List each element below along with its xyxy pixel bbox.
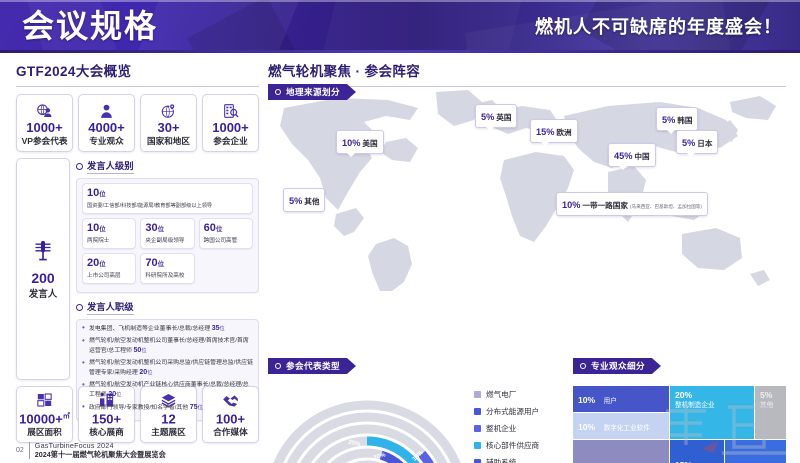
exhibition-area-icon — [36, 391, 53, 409]
stat-value: 4000+ — [88, 121, 125, 135]
bullet-ring-icon — [76, 304, 83, 311]
map-label-pct: 10% — [342, 138, 360, 148]
tile-label: 数字化工业软件 — [604, 425, 650, 432]
level-group-panel: 10位 国资委/工信部/科技部/能源局/教育部等副部级以上领导 10位 两院院士… — [76, 178, 259, 293]
radial-chart-svg: 10% 10% 15% 25% 20% 15% 5% — [264, 384, 470, 463]
building-search-icon — [223, 102, 239, 120]
speaker-detail-wrap: 200 发言人 发言人级别 10位 国资委/工信部/科技部/能源局/教育部等副部… — [16, 158, 259, 380]
person-icon — [99, 102, 114, 120]
page-footer: 02 GasTurbineFocus 2024 2024第十一届燃气轮机聚焦大会… — [16, 441, 166, 459]
radial-chart-block: 参会代表类型 — [268, 360, 528, 463]
legend-swatch — [474, 408, 481, 415]
map-label-pct: 5% — [481, 112, 494, 122]
title-bullet-list: 发电集团、飞机制造等企业董事长/总裁/总经理 35位 燃气轮机/航空发动机整机公… — [82, 324, 253, 413]
footer-divider — [29, 442, 30, 459]
page-title: 会议规格 — [22, 6, 158, 46]
footer-line-2: 2024第十一届燃气轮机聚焦大会暨展览会 — [35, 450, 166, 459]
title-group-header: 发言人职级 — [76, 299, 259, 315]
map-label-name: 英国 — [496, 113, 511, 122]
level-cell: 10位 国资委/工信部/科技部/能源局/教育部等副部级以上领导 — [82, 183, 253, 214]
stat-card: 1000+ 参会企业 — [202, 94, 259, 152]
stat-label: 展区面积 — [27, 427, 61, 438]
legend-label: 燃气电厂 — [486, 389, 516, 400]
world-map-chart: 地理来源划分 10%美国 5%英国 15%欧洲 5%韩国 5%日本 45%中国 … — [268, 86, 786, 291]
radial-tag: 参会代表类型 — [268, 358, 356, 374]
map-label-belt-and-road: 10%一带一路国家(马来西亚、巴基斯坦、孟加拉国等) — [556, 192, 708, 216]
level-value: 10位 — [87, 222, 131, 236]
legend-swatch — [474, 442, 481, 449]
stat-card: 1000+ VP参会代表 — [16, 94, 73, 152]
bullet-ring-icon — [76, 163, 83, 170]
stat-card: 4000+ 专业观众 — [78, 94, 135, 152]
footer-line-1: GasTurbineFocus 2024 — [35, 441, 166, 450]
map-label-uk: 5%英国 — [475, 104, 517, 128]
tag-ring-icon — [580, 363, 586, 369]
tile-pct: 10% — [578, 422, 595, 432]
stat-card: 30+ 国家和地区 — [140, 94, 197, 152]
stat-label: VP参会代表 — [22, 136, 68, 147]
map-label-name: 韩国 — [677, 116, 692, 125]
map-label-pct: 5% — [682, 138, 695, 148]
top-stats-row: 1000+ VP参会代表 4000+ 专业观众 30+ 国家和地区 — [16, 94, 259, 152]
level-desc: 跨国公司高管 — [204, 237, 248, 245]
level-desc: 上市公司高层 — [87, 272, 131, 280]
legend-item: 核心部件供应商 — [474, 437, 539, 454]
legend-label: 整机企业 — [486, 423, 516, 434]
map-label-name: 中国 — [634, 152, 649, 161]
list-item: 燃气轮机/航空发动机整机公司董事长/总经理/首席技术官/首席运营官/总工程师 5… — [82, 337, 253, 357]
map-tag: 地理来源划分 — [268, 84, 356, 100]
globe-pin-icon — [160, 102, 177, 120]
level-cell: 20位 上市公司高层 — [82, 253, 136, 284]
level-cell: 70位 科研院所及高校 — [140, 253, 194, 284]
stat-value: 1000+ — [26, 121, 63, 135]
level-value: 70位 — [145, 257, 189, 271]
level-value: 60位 — [204, 222, 248, 236]
list-item: 燃气轮机/航空发动机产业链核心供应商董事长/总裁/总经理/总工程师 20位 — [82, 381, 253, 401]
legend-item: 辅助系统 — [474, 454, 539, 463]
level-cell: 30位 央企副局级领导 — [140, 218, 194, 249]
treemap-tag-label: 专业观众细分 — [591, 360, 645, 372]
level-cell: 10位 两院院士 — [82, 218, 136, 249]
radial-tag-label: 参会代表类型 — [286, 360, 340, 372]
list-item: 燃气轮机/航空发动机整机公司采购总监/供应链管理总监/供应链管理专家/采购经理 … — [82, 359, 253, 379]
map-label-name: 一带一路国家 — [582, 201, 628, 210]
level-value: 30位 — [145, 222, 189, 236]
speaker-detail-column: 发言人级别 10位 国资委/工信部/科技部/能源局/教育部等副部级以上领导 10… — [76, 158, 259, 380]
map-label-us: 10%美国 — [336, 130, 384, 154]
map-label-name: 日本 — [697, 139, 712, 148]
stat-label: 专业观众 — [89, 136, 123, 147]
level-desc: 科研院所及高校 — [145, 272, 189, 280]
page-number: 02 — [16, 447, 24, 454]
level-group-title: 发言人级别 — [87, 158, 134, 174]
right-panel: 燃气轮机聚焦 · 参会阵容 — [268, 60, 786, 450]
right-section-title: 燃气轮机聚焦 · 参会阵容 — [268, 60, 786, 80]
treemap-tile-materials: 25% 材料及核心部件供应商 — [573, 440, 669, 463]
tag-ring-icon — [275, 89, 281, 95]
legend-swatch — [474, 391, 481, 398]
legend-swatch — [474, 459, 481, 463]
stat-value: 1000+ — [212, 121, 249, 135]
map-label-korea: 5%韩国 — [656, 107, 698, 131]
speaker-summary-card: 200 发言人 — [16, 158, 70, 380]
level-desc: 央企副局级领导 — [145, 237, 189, 245]
level-desc: 两院院士 — [87, 237, 131, 245]
treemap-tile-users: 10% 用户 — [573, 386, 669, 412]
stat-label: 主题展区 — [151, 427, 185, 438]
list-item: 政府部门领导/专家教授/知名学者/其他 75位 — [82, 403, 253, 413]
map-label-other: 5%其他 — [283, 188, 325, 212]
left-section-rule — [16, 86, 259, 87]
list-item: 发电集团、飞机制造等企业董事长/总裁/总经理 35位 — [82, 324, 253, 334]
level-cell: 60位 跨国公司高管 — [199, 218, 253, 249]
map-label-pct: 5% — [289, 196, 302, 206]
map-label-pct: 45% — [614, 151, 632, 161]
legend-label: 核心部件供应商 — [486, 440, 539, 451]
map-label-name: 美国 — [362, 139, 377, 148]
header-bottom-rule — [0, 50, 800, 53]
stat-card: 10000+㎡ 展区面积 — [16, 386, 73, 443]
title-group-title: 发言人职级 — [87, 299, 134, 315]
stat-value: 10000+㎡ — [19, 410, 70, 426]
map-label-japan: 5%日本 — [676, 130, 718, 154]
level-row-1: 10位 两院院士 30位 央企副局级领导 60位 跨国公司高管 — [82, 218, 253, 249]
tile-pct: 10% — [578, 395, 595, 405]
map-label-pct: 10% — [562, 200, 580, 210]
title-group-panel: 发电集团、飞机制造等企业董事长/总裁/总经理 35位 燃气轮机/航空发动机整机公… — [76, 319, 259, 421]
speaker-count: 200 — [31, 270, 54, 286]
footer-text: GasTurbineFocus 2024 2024第十一届燃气轮机聚焦大会暨展览… — [35, 441, 166, 459]
legend-item: 分布式能源用户 — [474, 403, 539, 420]
level-desc: 国资委/工信部/科技部/能源局/教育部等副部级以上领导 — [87, 202, 248, 210]
header-top-rule — [0, 0, 800, 2]
map-label-pct: 15% — [536, 127, 554, 137]
slide-root: 会议规格 燃机人不可缺席的年度盛会！ GTF2024大会概览 1000+ VP参… — [0, 0, 800, 463]
map-label-sub: (马来西亚、巴基斯坦、孟加拉国等) — [630, 204, 702, 209]
world-map-shapes — [268, 86, 786, 291]
map-label-pct: 5% — [662, 115, 675, 125]
tag-ring-icon — [275, 363, 281, 369]
level-row-2: 20位 上市公司高层 70位 科研院所及高校 — [82, 253, 253, 284]
stat-label: 国家和地区 — [147, 136, 190, 147]
left-panel: GTF2024大会概览 1000+ VP参会代表 4000+ 专业观众 — [16, 60, 259, 445]
map-label-name: 其他 — [304, 197, 319, 206]
map-tag-label: 地理来源划分 — [286, 86, 340, 98]
legend-swatch — [474, 425, 481, 432]
speaker-count-label: 发言人 — [29, 286, 58, 300]
treemap-tile-software: 10% 数字化工业软件 — [573, 413, 669, 439]
legend-label: 分布式能源用户 — [486, 406, 539, 417]
level-group-header: 发言人级别 — [76, 158, 259, 174]
treemap-tag: 专业观众细分 — [573, 358, 661, 374]
microphone-icon — [33, 239, 53, 266]
stat-label: 合作媒体 — [213, 427, 247, 438]
legend-item: 燃气电厂 — [474, 386, 539, 403]
stat-label: 核心展商 — [89, 427, 123, 438]
left-section-title: GTF2024大会概览 — [16, 60, 259, 80]
level-value: 20位 — [87, 257, 131, 271]
map-label-name: 欧洲 — [556, 128, 571, 137]
header-slogan: 燃机人不可缺席的年度盛会！ — [535, 13, 782, 39]
map-label-china: 45%中国 — [608, 143, 656, 167]
stat-value: 30+ — [157, 121, 179, 135]
watermark — [656, 397, 796, 463]
stat-label: 参会企业 — [213, 136, 247, 147]
tile-label: 用户 — [604, 398, 617, 405]
radial-legend: 燃气电厂 分布式能源用户 整机企业 核心部件供应商 辅助系统 高校及科研院所 其… — [474, 386, 539, 463]
legend-label: 辅助系统 — [486, 457, 516, 463]
globe-person-icon — [36, 102, 53, 120]
legend-item: 整机企业 — [474, 420, 539, 437]
level-value: 10位 — [87, 187, 248, 201]
slide-header: 会议规格 燃机人不可缺席的年度盛会！ — [0, 0, 800, 53]
map-label-europe: 15%欧洲 — [530, 119, 578, 143]
